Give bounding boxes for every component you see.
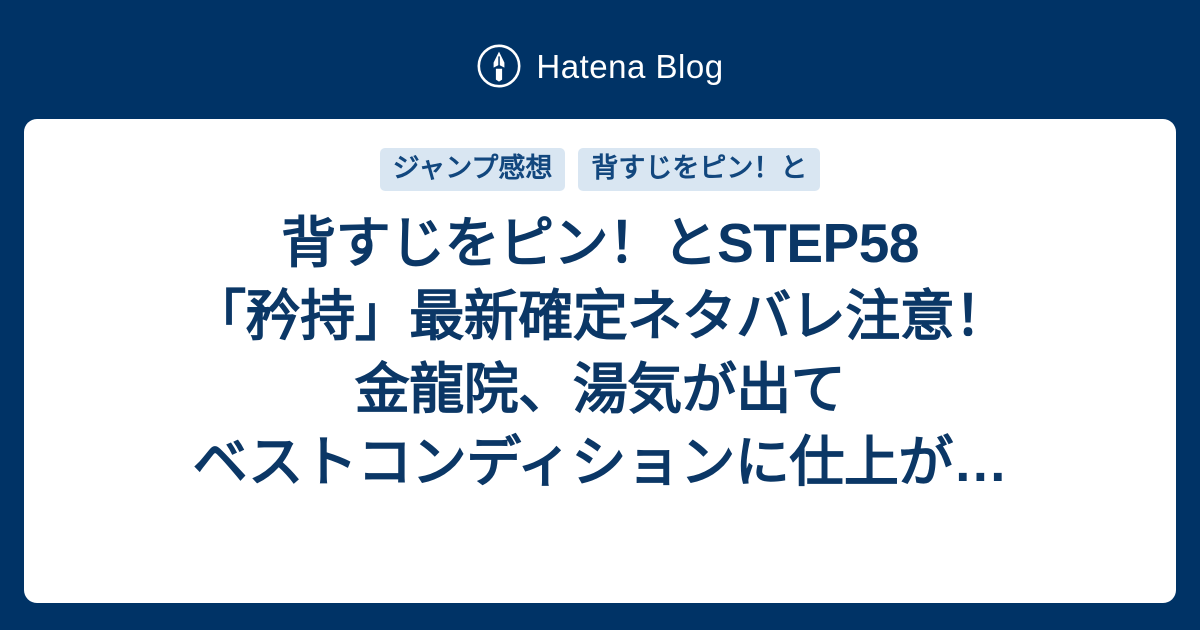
entry-title: 背すじをピン！とSTEP58 「矜持」最新確定ネタバレ注意！ 金龍院、湯気が出て… — [24, 207, 1176, 499]
entry-card: ジャンプ感想 背すじをピン！と 背すじをピン！とSTEP58 「矜持」最新確定ネ… — [24, 119, 1176, 603]
entry-title-line-3: 金龍院、湯気が出て — [42, 353, 1158, 426]
ogp-card-page: Hatena Blog ジャンプ感想 背すじをピン！と 背すじをピン！とSTEP… — [0, 0, 1200, 630]
hatena-blog-brand-name: Hatena Blog — [536, 50, 723, 83]
entry-title-line-2: 「矜持」最新確定ネタバレ注意！ — [42, 280, 1158, 353]
tag-sesuji-wo-pin-to[interactable]: 背すじをピン！と — [578, 148, 820, 191]
entry-title-line-1: 背すじをピン！とSTEP58 — [42, 207, 1158, 280]
tag-list: ジャンプ感想 背すじをピン！と — [24, 148, 1176, 191]
hatena-blog-pen-nib-icon — [476, 43, 522, 89]
hatena-blog-brand: Hatena Blog — [0, 38, 1200, 94]
entry-title-line-4: ベストコンディションに仕上が… — [42, 426, 1158, 499]
tag-jump-kanso[interactable]: ジャンプ感想 — [380, 148, 566, 191]
